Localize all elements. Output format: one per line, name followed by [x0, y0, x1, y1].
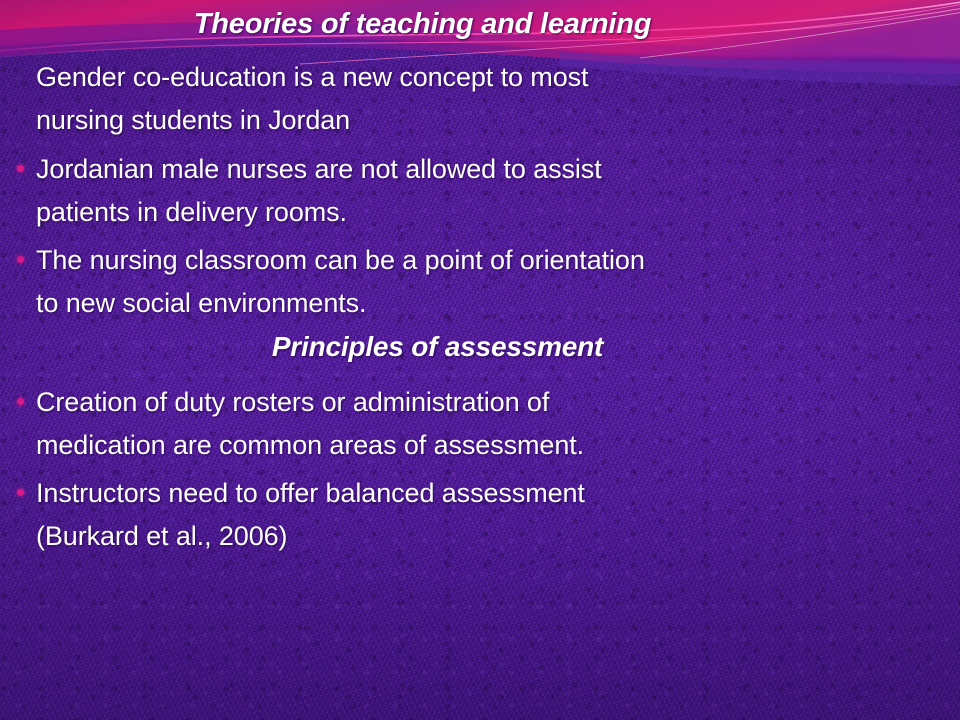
body-paragraph-instructors: Instructors need to offer balanced asses…	[36, 472, 946, 558]
bullet-marker-icon	[17, 398, 24, 405]
body-paragraph-gender: Gender co-education is a new concept to …	[36, 56, 916, 142]
paragraph-line: Instructors need to offer balanced asses…	[36, 472, 946, 515]
paragraph-line: The nursing classroom can be a point of …	[36, 239, 956, 282]
paragraph-line: (Burkard et al., 2006)	[36, 515, 946, 558]
body-paragraph-duty-rosters: Creation of duty rosters or administrati…	[36, 381, 926, 467]
bullet-marker-icon	[17, 256, 24, 263]
paragraph-line: medication are common areas of assessmen…	[36, 424, 926, 467]
body-paragraph-male-nurses: Jordanian male nurses are not allowed to…	[36, 148, 926, 234]
paragraph-line: Jordanian male nurses are not allowed to…	[36, 148, 926, 191]
paragraph-line: nursing students in Jordan	[36, 99, 916, 142]
slide-title: Theories of teaching and learning	[0, 8, 845, 41]
slide-subheading: Principles of assessment	[0, 331, 875, 363]
presentation-slide: Theories of teaching and learning Gender…	[0, 0, 960, 720]
bullet-marker-icon	[17, 489, 24, 496]
paragraph-line: to new social environments.	[36, 282, 956, 325]
paragraph-line: patients in delivery rooms.	[36, 191, 926, 234]
paragraph-line: Creation of duty rosters or administrati…	[36, 381, 926, 424]
bullet-marker-icon	[17, 165, 24, 172]
slide-content: Theories of teaching and learning Gender…	[0, 0, 960, 720]
paragraph-line: Gender co-education is a new concept to …	[36, 56, 916, 99]
body-paragraph-classroom: The nursing classroom can be a point of …	[36, 239, 956, 325]
